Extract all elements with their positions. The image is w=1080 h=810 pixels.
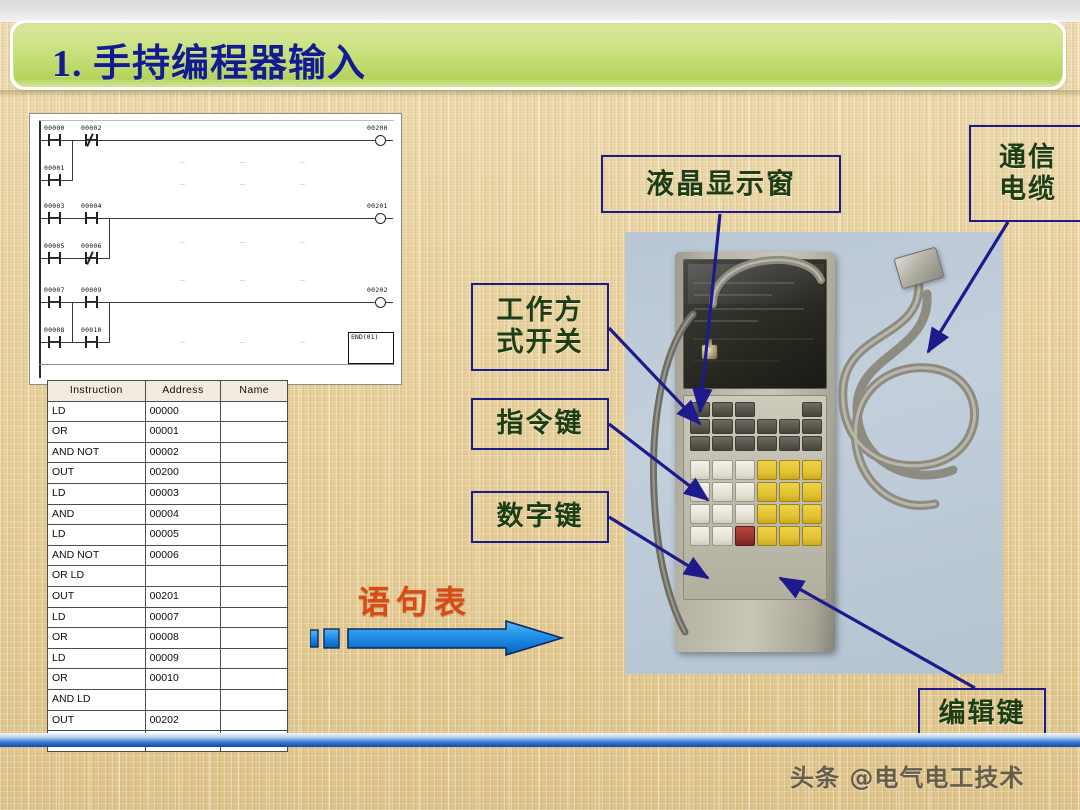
cell-instruction: OUT (48, 710, 146, 731)
handheld-programmer-photo (625, 232, 1003, 674)
ladder-diagram-panel: 00000 00002 00200 00001 00003 00004 0020… (29, 113, 402, 385)
cell-name (221, 422, 288, 443)
grid-tick (300, 280, 305, 281)
page-title: 1. 手持编程器输入 (52, 32, 366, 87)
cell-address: 00002 (145, 442, 221, 463)
cell-instruction: AND (48, 504, 146, 525)
function-key[interactable] (779, 419, 799, 434)
table-row: OR00001 (48, 422, 288, 443)
contact-label: 00000 (44, 124, 65, 132)
contact-label: 00004 (81, 202, 102, 210)
function-key[interactable] (757, 436, 777, 451)
contact-no (48, 252, 61, 264)
table-row: LD00003 (48, 483, 288, 504)
table-row: AND NOT00002 (48, 442, 288, 463)
instruction-key[interactable] (779, 504, 799, 524)
cell-instruction: OUT (48, 586, 146, 607)
cell-instruction: LD (48, 525, 146, 546)
grid-tick (180, 280, 185, 281)
table-row: AND00004 (48, 504, 288, 525)
cell-instruction: OR LD (48, 566, 146, 587)
callout-label: 指令键 (497, 408, 584, 440)
ladder-left-rail (39, 120, 41, 378)
cell-address: 00200 (145, 463, 221, 484)
table-row: OR LD (48, 566, 288, 587)
cell-instruction: LD (48, 401, 146, 422)
cell-instruction: OR (48, 669, 146, 690)
cell-address: 00003 (145, 483, 221, 504)
instruction-key[interactable] (757, 482, 777, 502)
cell-address: 00008 (145, 628, 221, 649)
contact-no (48, 296, 61, 308)
grid-tick (240, 242, 245, 243)
contact-label: 00009 (81, 286, 102, 294)
table-header-row: Instruction Address Name (48, 381, 288, 402)
cell-instruction: AND LD (48, 689, 146, 710)
grid-tick (240, 342, 245, 343)
communication-cable (827, 268, 995, 598)
instruction-key[interactable] (779, 482, 799, 502)
callout-lcd-window: 液晶显示窗 (601, 155, 841, 213)
ladder-top-rail (39, 120, 394, 121)
grid-tick (180, 242, 185, 243)
statement-table-label: 语句表 (358, 577, 472, 623)
screen-text-line (694, 338, 814, 340)
cell-name (221, 545, 288, 566)
instruction-key[interactable] (757, 504, 777, 524)
callout-label: 液晶显示窗 (646, 167, 796, 200)
grid-tick (300, 184, 305, 185)
function-key[interactable] (757, 419, 777, 434)
contact-label: 00001 (44, 164, 65, 172)
table-row: OR00010 (48, 669, 288, 690)
grid-tick (180, 342, 185, 343)
cell-instruction: AND NOT (48, 545, 146, 566)
callout-mode-switch: 工作方式开关 (471, 283, 609, 371)
cell-address: 00000 (145, 401, 221, 422)
table-row: LD00005 (48, 525, 288, 546)
callout-label: 数字键 (497, 501, 584, 533)
ladder-branch-wire (72, 140, 73, 180)
end-block-label: END(01) (351, 333, 378, 341)
cell-name (221, 607, 288, 628)
function-key[interactable] (802, 436, 822, 451)
contact-no (48, 212, 61, 224)
instruction-key[interactable] (802, 482, 822, 502)
grid-tick (300, 162, 305, 163)
cell-instruction: LD (48, 483, 146, 504)
cell-instruction: OR (48, 628, 146, 649)
clear-key[interactable] (735, 526, 755, 546)
contact-nc (85, 252, 98, 264)
instruction-key[interactable] (802, 504, 822, 524)
edit-key[interactable] (779, 526, 799, 546)
coil-label: 00202 (367, 286, 388, 294)
contact-label: 00008 (44, 326, 65, 334)
callout-comm-cable: 通信电缆 (969, 125, 1080, 222)
function-key[interactable] (712, 419, 732, 434)
numeric-key[interactable] (712, 504, 732, 524)
table-row: OUT00201 (48, 586, 288, 607)
statement-table-arrow (310, 620, 565, 656)
cell-name (221, 463, 288, 484)
cell-address: 00009 (145, 648, 221, 669)
cell-address: 00005 (145, 525, 221, 546)
cell-address: 00006 (145, 545, 221, 566)
cell-instruction: LD (48, 607, 146, 628)
cell-name (221, 648, 288, 669)
cell-name (221, 504, 288, 525)
callout-instruction-keys: 指令键 (471, 398, 609, 450)
cell-address: 00007 (145, 607, 221, 628)
contact-no (85, 212, 98, 224)
arrow-body (348, 621, 562, 655)
function-key[interactable] (802, 419, 822, 434)
watermark: 头条 @电气电工技术 (790, 758, 1024, 793)
numeric-key[interactable] (735, 482, 755, 502)
instruction-table: Instruction Address Name LD00000OR00001A… (47, 380, 288, 752)
grid-tick (300, 342, 305, 343)
ladder-branch-wire (72, 302, 73, 342)
cell-name (221, 483, 288, 504)
coil-label: 00201 (367, 202, 388, 210)
function-key[interactable] (712, 436, 732, 451)
key-gap (779, 402, 799, 417)
cell-instruction: LD (48, 648, 146, 669)
numeric-key[interactable] (712, 482, 732, 502)
column-header-name: Name (221, 381, 288, 402)
table-row: AND LD (48, 689, 288, 710)
callout-label: 通信电缆 (999, 142, 1057, 206)
contact-label: 00005 (44, 242, 65, 250)
contact-label: 00006 (81, 242, 102, 250)
table-row: LD00007 (48, 607, 288, 628)
grid-tick (300, 242, 305, 243)
edit-key[interactable] (757, 526, 777, 546)
edit-key[interactable] (802, 526, 822, 546)
ladder-bottom-rail (39, 364, 394, 365)
table-row: OUT00200 (48, 463, 288, 484)
function-key[interactable] (735, 402, 755, 417)
bottom-divider (0, 733, 1080, 747)
cell-instruction: AND NOT (48, 442, 146, 463)
ladder-end-block: END(01) (348, 332, 394, 364)
cell-address (145, 566, 221, 587)
contact-label: 00002 (81, 124, 102, 132)
cell-instruction: OR (48, 422, 146, 443)
cell-address: 00202 (145, 710, 221, 731)
table-row: LD00009 (48, 648, 288, 669)
function-key[interactable] (779, 436, 799, 451)
coil-output (375, 213, 386, 224)
table-row: OUT00202 (48, 710, 288, 731)
header-shadow (0, 90, 1080, 98)
ladder-branch-wire (109, 218, 110, 258)
instruction-key[interactable] (757, 460, 777, 480)
cell-name (221, 689, 288, 710)
numeric-key[interactable] (712, 526, 732, 546)
cell-name (221, 669, 288, 690)
contact-no (48, 174, 61, 186)
grid-tick (240, 280, 245, 281)
coil-label: 00200 (367, 124, 388, 132)
numeric-key[interactable] (735, 460, 755, 480)
top-strip (0, 0, 1080, 22)
contact-nc (85, 134, 98, 146)
callout-numeric-keys: 数字键 (471, 491, 609, 543)
function-key[interactable] (712, 402, 732, 417)
coil-output (375, 297, 386, 308)
instruction-key[interactable] (779, 460, 799, 480)
cell-address: 00010 (145, 669, 221, 690)
cell-address: 00001 (145, 422, 221, 443)
cell-name (221, 566, 288, 587)
grid-tick (180, 184, 185, 185)
grid-tick (240, 162, 245, 163)
numeric-key[interactable] (735, 504, 755, 524)
function-key[interactable] (802, 402, 822, 417)
cell-name (221, 442, 288, 463)
callout-label: 编辑键 (939, 698, 1026, 730)
grid-tick (180, 162, 185, 163)
contact-no (48, 336, 61, 348)
cable-top-loop (695, 238, 845, 308)
grid-tick (240, 184, 245, 185)
key-gap (757, 402, 777, 417)
ladder-branch-wire (109, 302, 110, 342)
contact-label: 00010 (81, 326, 102, 334)
table-row: OR00008 (48, 628, 288, 649)
table-row: LD00000 (48, 401, 288, 422)
column-header-address: Address (145, 381, 221, 402)
cell-name (221, 710, 288, 731)
cell-address: 00201 (145, 586, 221, 607)
cell-instruction: OUT (48, 463, 146, 484)
callout-label: 工作方式开关 (497, 295, 584, 359)
column-header-instruction: Instruction (48, 381, 146, 402)
cell-name (221, 401, 288, 422)
cell-name (221, 586, 288, 607)
callout-edit-keys: 编辑键 (918, 688, 1046, 739)
function-key[interactable] (735, 436, 755, 451)
contact-no (85, 336, 98, 348)
cell-address: 00004 (145, 504, 221, 525)
numeric-key[interactable] (712, 460, 732, 480)
cell-address (145, 689, 221, 710)
coil-output (375, 135, 386, 146)
contact-no (48, 134, 61, 146)
contact-no (85, 296, 98, 308)
contact-label: 00003 (44, 202, 65, 210)
contact-label: 00007 (44, 286, 65, 294)
arrow-dash-1 (310, 630, 318, 647)
function-key[interactable] (735, 419, 755, 434)
cable-left-strand (641, 310, 711, 640)
table-row: AND NOT00006 (48, 545, 288, 566)
arrow-dash-2 (324, 629, 339, 648)
cell-name (221, 525, 288, 546)
cell-name (221, 628, 288, 649)
instruction-key[interactable] (802, 460, 822, 480)
